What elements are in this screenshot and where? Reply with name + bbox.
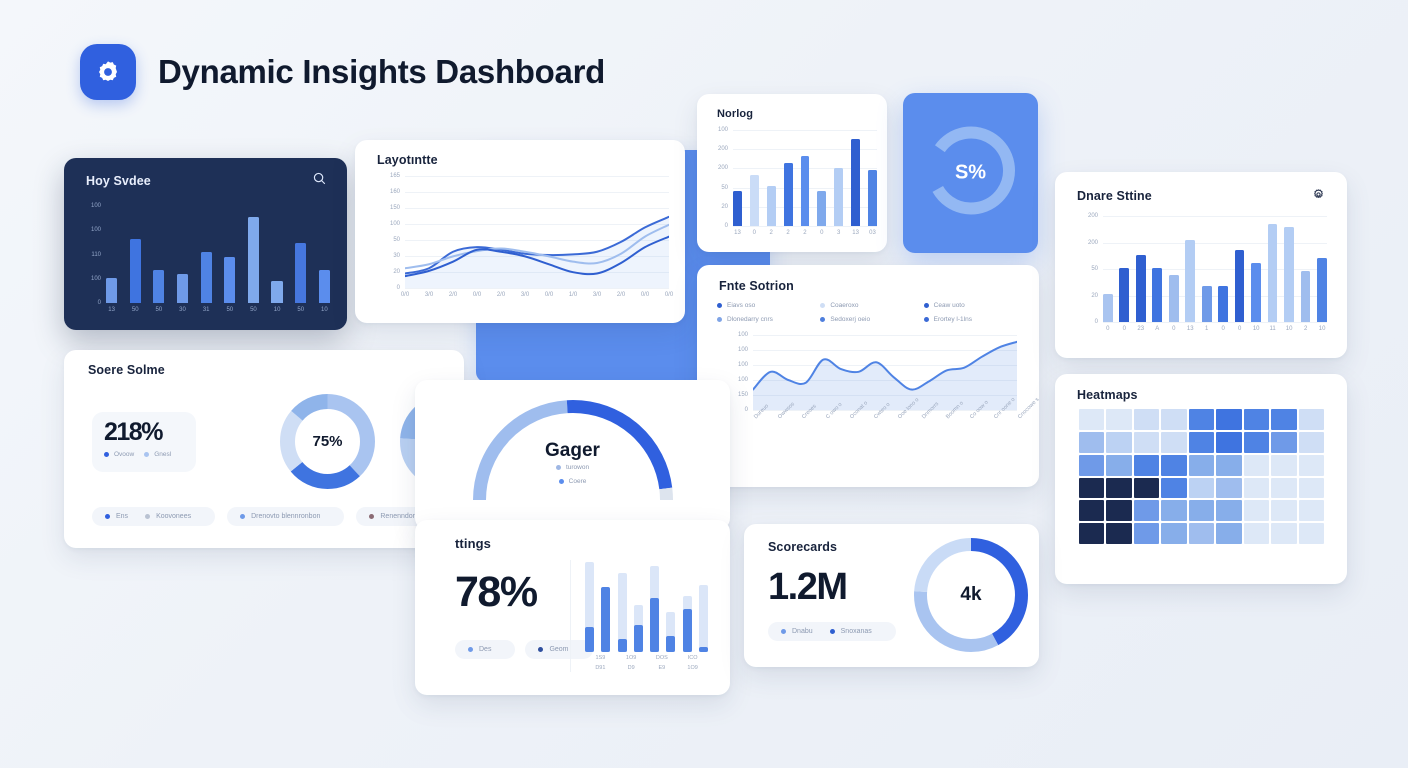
legend-item[interactable]: Ceaw uoto: [924, 302, 1027, 309]
bar[interactable]: [767, 186, 776, 226]
heatmap-cell[interactable]: [1216, 523, 1241, 544]
y-tick: 20: [381, 269, 400, 275]
x-tick: 10: [1251, 326, 1261, 332]
card-line-area[interactable]: Layotıntte 16516015010050302000/03/02/00…: [355, 140, 685, 323]
bar[interactable]: [817, 191, 826, 226]
y-tick: 150: [729, 392, 748, 398]
heatmap-cell[interactable]: [1271, 478, 1296, 499]
bar[interactable]: [851, 139, 860, 226]
bar[interactable]: [1119, 268, 1129, 322]
x-tick: E9: [647, 664, 678, 674]
heatmap-cell[interactable]: [1189, 432, 1214, 453]
bar[interactable]: [733, 191, 742, 226]
heatmap-cell[interactable]: [1161, 432, 1186, 453]
legend-label: Sedoxerj oeio: [830, 316, 870, 323]
bar[interactable]: [1301, 271, 1311, 322]
legend-dot: [820, 317, 825, 322]
card-title-line-area: Layotıntte: [377, 153, 438, 167]
bar[interactable]: [271, 281, 282, 303]
card-blue-ring[interactable]: S%: [903, 93, 1038, 253]
x-tick: 1O9: [616, 654, 647, 664]
x-tick: 50: [130, 307, 141, 313]
heatmap-cell[interactable]: [1216, 500, 1241, 521]
y-tick: 100: [717, 127, 728, 133]
y-tick: 100: [88, 227, 101, 233]
heatmap-cell[interactable]: [1216, 432, 1241, 453]
x-tick: 0: [1235, 326, 1245, 332]
bar[interactable]: [130, 239, 141, 303]
chart-flow: 1001001001001500DureuoOwwsosCreoesC owo …: [729, 335, 1017, 440]
bar[interactable]: [1268, 224, 1278, 322]
y-tick: 100: [88, 276, 101, 282]
legend-scorecards: DnabuSnoxanas: [768, 622, 896, 641]
legend-settings: DesGeom: [455, 640, 593, 659]
bar-fill: [618, 639, 627, 652]
card-flow[interactable]: Fnte Sotrion Eiavs osoCoaeroxoCeaw uotoD…: [697, 265, 1039, 487]
heatmap-cell[interactable]: [1244, 500, 1269, 521]
legend-flow: Eiavs osoCoaeroxoCeaw uotoDlonedarry cnr…: [717, 302, 1027, 323]
bar[interactable]: [650, 566, 659, 652]
legend-label: Renenndom: [380, 513, 418, 520]
heatmap-cell[interactable]: [1299, 432, 1324, 453]
x-tick: 50: [153, 307, 164, 313]
legend-chip[interactable]: Des: [455, 640, 515, 659]
legend-chip[interactable]: Geom: [525, 640, 592, 659]
stat-value-218: 218%: [104, 418, 162, 447]
heatmap-cell[interactable]: [1134, 432, 1159, 453]
line-series: [405, 176, 669, 288]
bar-group: [733, 130, 877, 226]
card-dark-bar[interactable]: Hoy Svdee 100100110100013505030315050105…: [64, 158, 347, 330]
legend-dot: [559, 479, 564, 484]
heatmap-cell[interactable]: [1079, 500, 1104, 521]
card-settings[interactable]: ttings 78% DesGeom 1S9D911O9D9DOSE9ICO1O…: [415, 520, 730, 695]
app-logo: [80, 44, 136, 100]
y-tick: 200: [717, 165, 728, 171]
x-tick: 50: [295, 307, 306, 313]
bar-fill: [699, 647, 708, 652]
x-tick: 1: [1202, 326, 1212, 332]
chart-dist: 200200502000023A013100101110210: [1083, 216, 1327, 336]
heatmap-cell[interactable]: [1189, 409, 1214, 430]
legend-dot: [538, 647, 543, 652]
heatmap-cell[interactable]: [1189, 455, 1214, 476]
legend-item[interactable]: Erortey l-1lns: [924, 316, 1027, 323]
bar-fill: [585, 627, 594, 652]
heatmap-cell[interactable]: [1161, 523, 1186, 544]
legend-dot: [369, 514, 374, 519]
heatmap-cell[interactable]: [1244, 455, 1269, 476]
bar[interactable]: [1251, 263, 1261, 322]
heatmap-cell[interactable]: [1299, 500, 1324, 521]
x-tick: 0: [1119, 326, 1129, 332]
heatmap-cell[interactable]: [1106, 500, 1131, 521]
y-tick: 200: [1083, 213, 1098, 219]
bar[interactable]: [224, 257, 235, 303]
y-tick: 0: [717, 223, 728, 229]
y-tick: 160: [381, 189, 400, 195]
x-tick: 03: [868, 230, 877, 236]
heatmap-cell[interactable]: [1189, 478, 1214, 499]
y-tick: 0: [88, 300, 101, 306]
heatmap-cell[interactable]: [1299, 478, 1324, 499]
x-tick: 13: [733, 230, 742, 236]
legend-stat: OvoowGnesl: [104, 451, 171, 458]
y-tick: 30: [381, 253, 400, 259]
x-tick: 11: [1268, 326, 1278, 332]
bar[interactable]: [801, 156, 810, 226]
bar[interactable]: [1136, 255, 1146, 322]
heatmap-cell[interactable]: [1161, 500, 1186, 521]
divider: [570, 560, 571, 672]
bar[interactable]: [634, 605, 643, 652]
y-tick: 0: [1083, 319, 1098, 325]
heatmap-cell[interactable]: [1299, 455, 1324, 476]
legend-dot: [830, 629, 835, 634]
chart-small-bar: 10020020050200130222031303: [717, 130, 877, 238]
bar-group: [585, 562, 708, 652]
legend-label: Eiavs oso: [727, 302, 755, 309]
legend-chip[interactable]: Drenovto blennronbon: [227, 507, 344, 526]
legend-label: Dlonedarry cnrs: [727, 316, 773, 323]
heatmap-cell[interactable]: [1106, 455, 1131, 476]
heatmap-cell[interactable]: [1106, 523, 1131, 544]
x-tick: 13: [106, 307, 117, 313]
legend-label: turowon: [566, 464, 589, 471]
x-tick: 0: [817, 230, 826, 236]
x-tick: 0: [1103, 326, 1113, 332]
legend-item[interactable]: turowon: [556, 464, 589, 471]
bar[interactable]: [106, 278, 117, 303]
legend-dot: [104, 452, 109, 457]
bar[interactable]: [750, 175, 759, 226]
x-tick: 10: [271, 307, 282, 313]
legend-item[interactable]: Ovoow: [104, 451, 134, 458]
stat-value-1-2m: 1.2M: [768, 566, 846, 609]
heatmap-cell[interactable]: [1216, 409, 1241, 430]
heatmap-cell[interactable]: [1271, 523, 1296, 544]
heatmap-cell[interactable]: [1189, 500, 1214, 521]
heatmap-cell[interactable]: [1134, 409, 1159, 430]
x-tick: 1S9: [585, 654, 616, 664]
y-tick: 0: [381, 285, 400, 291]
x-tick: 23: [1136, 326, 1146, 332]
card-title-small-bar: Norlog: [717, 108, 753, 120]
card-title-score-some: Soere Solme: [88, 363, 165, 377]
legend-dot: [781, 629, 786, 634]
legend-dot: [717, 303, 722, 308]
bar[interactable]: [585, 562, 594, 652]
bar[interactable]: [618, 573, 627, 652]
dashboard-stage: Dynamic Insights Dashboard Hoy Svdee 100…: [0, 0, 1408, 768]
y-tick: 100: [729, 362, 748, 368]
heatmap-cell[interactable]: [1244, 523, 1269, 544]
x-tick: A: [1152, 326, 1162, 332]
heatmap-cell[interactable]: [1106, 478, 1131, 499]
heatmap-cell[interactable]: [1271, 500, 1296, 521]
heatmap-cell[interactable]: [1216, 455, 1241, 476]
card-gauge[interactable]: Gager turowonCoere: [415, 380, 730, 530]
bar[interactable]: [319, 270, 330, 303]
x-tick: 2: [1301, 326, 1311, 332]
card-score-some[interactable]: Soere Solme 218% OvoowGnesl 75% 80% EnsK…: [64, 350, 464, 548]
card-dist[interactable]: Dnare Sttine 200200502000023A01310010111…: [1055, 172, 1347, 358]
chart-heatmap: [1079, 409, 1324, 544]
page-title: Dynamic Insights Dashboard: [158, 53, 605, 91]
bar[interactable]: [699, 585, 708, 652]
legend-label: Erortey l-1lns: [934, 316, 972, 323]
y-tick: 100: [729, 377, 748, 383]
y-tick: 150: [381, 205, 400, 211]
heatmap-cell[interactable]: [1161, 455, 1186, 476]
bar[interactable]: [868, 170, 877, 226]
bar[interactable]: [834, 168, 843, 226]
x-tick: 2: [801, 230, 810, 236]
heatmap-cell[interactable]: [1216, 478, 1241, 499]
legend-label: Geom: [549, 646, 568, 653]
legend-dot: [717, 317, 722, 322]
legend-label: Ceaw uoto: [934, 302, 965, 309]
x-tick: 1O9: [677, 664, 708, 674]
legend-item[interactable]: Eiavs oso: [717, 302, 820, 309]
x-tick: 13: [1185, 326, 1195, 332]
line-series: [753, 335, 1017, 410]
legend-label: Dnabu: [792, 628, 813, 635]
legend-dot: [240, 514, 245, 519]
bar-group: [1103, 216, 1327, 322]
bar-fill: [666, 636, 675, 652]
heatmap-cell[interactable]: [1106, 409, 1131, 430]
y-tick: 100: [381, 221, 400, 227]
heatmap-cell[interactable]: [1271, 455, 1296, 476]
y-tick: 50: [381, 237, 400, 243]
heatmap-cell[interactable]: [1244, 409, 1269, 430]
bar[interactable]: [1103, 294, 1113, 322]
legend-dot: [924, 317, 929, 322]
x-tick: 0: [750, 230, 759, 236]
legend-label: Gnesl: [154, 451, 171, 458]
chart-settings-bars: [585, 562, 708, 652]
bar-fill: [650, 598, 659, 652]
bar[interactable]: [1284, 227, 1294, 322]
heatmap-cell[interactable]: [1079, 478, 1104, 499]
gear-icon: [95, 59, 121, 85]
chart-dark-bar: 100100110100013505030315050105010: [88, 206, 330, 316]
card-title-settings: ttings: [455, 536, 491, 551]
y-tick: 0: [729, 407, 748, 413]
x-tick: 50: [248, 307, 259, 313]
x-tick: D91: [585, 664, 616, 674]
x-tick: 2: [767, 230, 776, 236]
legend-label: Snoxanas: [841, 628, 872, 635]
legend-label: Coaeroxo: [830, 302, 858, 309]
x-tick: 0/0: [653, 292, 685, 298]
y-tick: 200: [717, 146, 728, 152]
legend-dot: [145, 514, 150, 519]
chart-settings-xlabels: 1S9D911O9D9DOSE9ICO1O9: [585, 654, 708, 674]
y-tick: 20: [717, 204, 728, 210]
bar[interactable]: [666, 612, 675, 652]
search-icon[interactable]: [312, 171, 327, 186]
gear-icon[interactable]: [1312, 188, 1325, 201]
y-tick: 110: [88, 252, 101, 258]
heatmap-cell[interactable]: [1134, 500, 1159, 521]
x-tick: 10: [1317, 326, 1327, 332]
legend-chip[interactable]: DnabuSnoxanas: [768, 622, 896, 641]
heatmap-cell[interactable]: [1244, 432, 1269, 453]
x-tick: 0: [1169, 326, 1179, 332]
legend-item[interactable]: Sedoxerj oeio: [820, 316, 923, 323]
bar[interactable]: [153, 270, 164, 304]
bar[interactable]: [1218, 286, 1228, 322]
x-tick: DOS: [647, 654, 678, 664]
heatmap-cell[interactable]: [1079, 432, 1104, 453]
x-tick: 10: [1284, 326, 1294, 332]
y-tick: 200: [1083, 240, 1098, 246]
legend-label: Koovonees: [156, 513, 191, 520]
heatmap-cell[interactable]: [1079, 409, 1104, 430]
donut-75-value: 75%: [280, 394, 375, 489]
bar[interactable]: [601, 596, 610, 652]
bar-fill: [683, 609, 692, 652]
card-scorecards[interactable]: Scorecards 1.2M DnabuSnoxanas 4k: [744, 524, 1039, 667]
card-heatmap[interactable]: Heatmaps: [1055, 374, 1347, 584]
x-tick: D9: [616, 664, 647, 674]
heatmap-cell[interactable]: [1079, 455, 1104, 476]
bar[interactable]: [248, 217, 259, 303]
bar[interactable]: [1185, 240, 1195, 322]
legend-gauge: turowonCoere: [415, 464, 730, 485]
x-tick: 13: [851, 230, 860, 236]
heatmap-cell[interactable]: [1271, 432, 1296, 453]
bar[interactable]: [1152, 268, 1162, 322]
heatmap-cell[interactable]: [1271, 409, 1296, 430]
heatmap-cell[interactable]: [1244, 478, 1269, 499]
blue-ring-value: S%: [903, 162, 1038, 185]
legend-dot: [556, 465, 561, 470]
x-tick: 0: [1218, 326, 1228, 332]
bar[interactable]: [683, 596, 692, 652]
bar[interactable]: [177, 274, 188, 303]
page-header: Dynamic Insights Dashboard: [80, 44, 605, 100]
bar[interactable]: [784, 163, 793, 226]
y-tick: 100: [729, 347, 748, 353]
x-tick: 30: [177, 307, 188, 313]
card-title-scorecards: Scorecards: [768, 540, 837, 554]
gauge-title: Gager: [415, 440, 730, 462]
legend-label: Drenovto blennronbon: [251, 513, 320, 520]
card-title-heatmap: Heatmaps: [1077, 388, 1138, 402]
card-title-dist: Dnare Sttine: [1077, 189, 1152, 203]
chart-line-area: 16516015010050302000/03/02/00/02/03/00/0…: [381, 176, 669, 304]
legend-chip[interactable]: EnsKoovonees: [92, 507, 215, 526]
card-title-dark-bar: Hoy Svdee: [86, 174, 151, 188]
bar-fill: [601, 587, 610, 652]
legend-label: Ens: [116, 513, 128, 520]
x-tick: 31: [201, 307, 212, 313]
bar[interactable]: [1202, 286, 1212, 322]
x-tick: 2: [784, 230, 793, 236]
y-tick: 165: [381, 173, 400, 179]
scorecard-ring-value: 4k: [914, 538, 1028, 652]
heatmap-cell[interactable]: [1161, 478, 1186, 499]
heatmap-cell[interactable]: [1299, 409, 1324, 430]
x-tick: 3: [834, 230, 843, 236]
legend-item[interactable]: Coere: [559, 478, 587, 485]
y-tick: 50: [717, 185, 728, 191]
stat-value-78: 78%: [455, 568, 537, 617]
legend-dot: [468, 647, 473, 652]
bar[interactable]: [295, 243, 306, 303]
heatmap-cell[interactable]: [1161, 409, 1186, 430]
legend-item[interactable]: Gnesl: [144, 451, 171, 458]
bar[interactable]: [1235, 250, 1245, 322]
x-tick: Cnocowe s: [1017, 397, 1040, 420]
bar-fill: [634, 625, 643, 652]
heatmap-cell[interactable]: [1134, 455, 1159, 476]
legend-dot: [105, 514, 110, 519]
x-tick: 50: [224, 307, 235, 313]
legend-label: Ovoow: [114, 451, 134, 458]
heatmap-cell[interactable]: [1134, 523, 1159, 544]
legend-label: Des: [479, 646, 491, 653]
bar[interactable]: [1169, 275, 1179, 322]
legend-dot: [924, 303, 929, 308]
bar[interactable]: [201, 252, 212, 303]
legend-item[interactable]: Coaeroxo: [820, 302, 923, 309]
card-title-flow: Fnte Sotrion: [719, 279, 794, 293]
legend-label: Coere: [569, 478, 587, 485]
legend-dot: [820, 303, 825, 308]
card-small-bar[interactable]: Norlog 10020020050200130222031303: [697, 94, 887, 252]
heatmap-cell[interactable]: [1189, 523, 1214, 544]
x-tick: ICO: [677, 654, 708, 664]
bar-group: [106, 206, 330, 303]
heatmap-cell[interactable]: [1299, 523, 1324, 544]
heatmap-cell[interactable]: [1079, 523, 1104, 544]
y-tick: 50: [1083, 266, 1098, 272]
y-tick: 20: [1083, 293, 1098, 299]
heatmap-cell[interactable]: [1134, 478, 1159, 499]
bar[interactable]: [1317, 258, 1327, 322]
y-tick: 100: [729, 332, 748, 338]
legend-dot: [144, 452, 149, 457]
legend-item[interactable]: Dlonedarry cnrs: [717, 316, 820, 323]
y-tick: 100: [88, 203, 101, 209]
x-tick: 10: [319, 307, 330, 313]
heatmap-cell[interactable]: [1106, 432, 1131, 453]
